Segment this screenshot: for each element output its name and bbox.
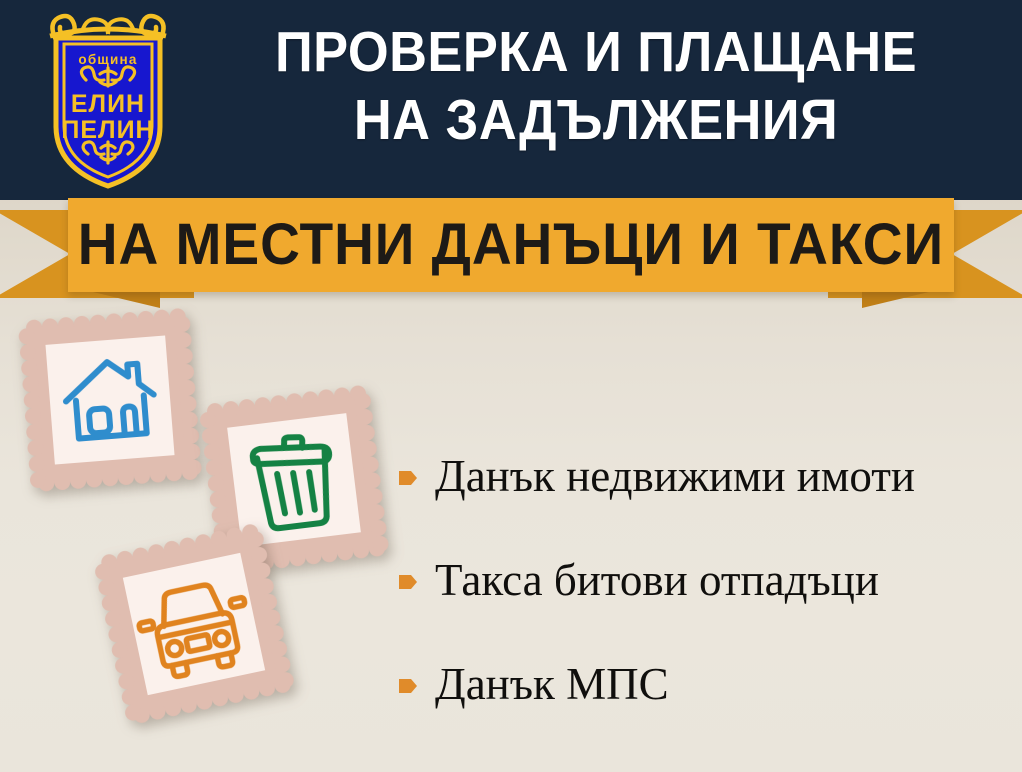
- list-item[interactable]: Такса битови отпадъци: [398, 528, 1018, 632]
- stamp-card-car: [90, 520, 299, 729]
- poster-canvas: община ЕЛИН ПЕЛИН ПРОВЕ: [0, 0, 1022, 772]
- list-item-label: Данък недвижими имоти: [435, 451, 915, 501]
- coat-of-arms-shield-icon: община ЕЛИН ПЕЛИН: [34, 8, 182, 192]
- list-item-label: Данък МПС: [435, 659, 669, 709]
- ribbon-main-band: НА МЕСТНИ ДАНЪЦИ И ТАКСИ: [68, 198, 954, 292]
- emblem-name-line-2: ПЕЛИН: [61, 116, 154, 144]
- emblem-community-label: община: [78, 52, 137, 67]
- page-title-line-1: ПРОВЕРКА И ПЛАЩАНЕ: [219, 18, 973, 86]
- arrow-bullet-icon: [398, 675, 418, 697]
- list-item-label: Такса битови отпадъци: [435, 555, 879, 605]
- page-title-line-2: НА ЗАДЪЛЖЕНИЯ: [219, 86, 973, 154]
- tax-type-list: Данък недвижими имоти Такса битови отпад…: [398, 424, 1018, 736]
- subtitle-ribbon: НА МЕСТНИ ДАНЪЦИ И ТАКСИ: [0, 198, 1022, 308]
- page-title: ПРОВЕРКА И ПЛАЩАНЕ НА ЗАДЪЛЖЕНИЯ: [219, 18, 973, 154]
- list-item[interactable]: Данък недвижими имоти: [398, 424, 1018, 528]
- ribbon-subtitle-text: НА МЕСТНИ ДАНЪЦИ И ТАКСИ: [78, 216, 944, 274]
- list-item[interactable]: Данък МПС: [398, 632, 1018, 736]
- arrow-bullet-icon: [398, 467, 418, 489]
- emblem-name-line-1: ЕЛИН: [71, 90, 145, 118]
- stamp-card-house: [15, 305, 204, 494]
- arrow-bullet-icon: [398, 571, 418, 593]
